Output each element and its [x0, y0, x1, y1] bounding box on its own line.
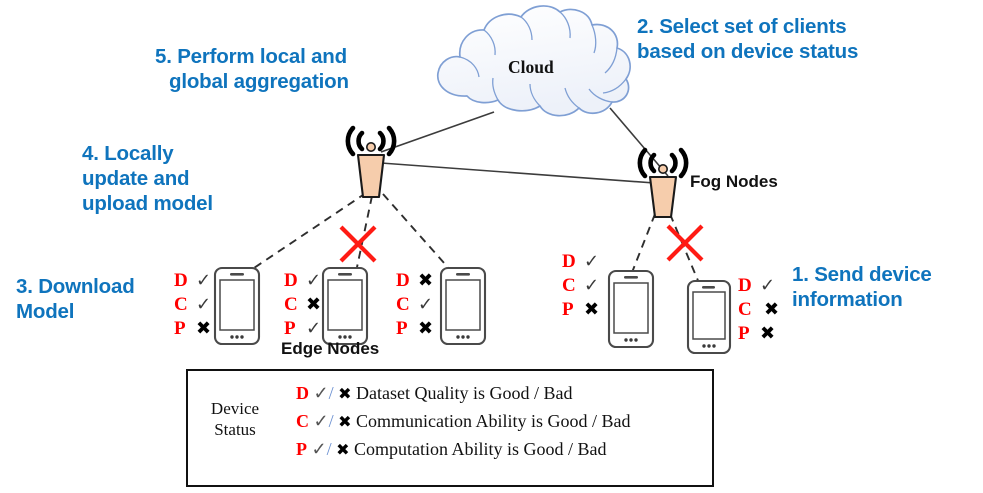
phone-device-2 [323, 268, 367, 344]
device-status-label-line-1: Device [196, 398, 274, 419]
legend-letter-P: P [296, 439, 307, 459]
cloud-label: Cloud [508, 57, 554, 78]
link-right-fog-device-5 [670, 214, 699, 283]
link-right-fog-device-4 [631, 214, 655, 275]
status-letter-C: C [396, 294, 411, 316]
annotation-step-4-line-3: upload model [82, 191, 262, 216]
edge-nodes-label: Edge Nodes [281, 339, 379, 359]
status-row-C: C ✓ [174, 293, 211, 317]
status-mark-D-bad: ✖ [418, 272, 433, 290]
fog-nodes-label: Fog Nodes [690, 172, 778, 192]
annotation-step-4: 4. Locally update and upload model [82, 141, 262, 216]
diagram-canvas: 5. Perform local and global aggregation … [0, 0, 983, 493]
legend-check-icon: ✓ [312, 439, 327, 459]
legend-cross-icon: ✖ [338, 384, 351, 403]
device-status-device-5: D ✓ C ✖ P ✖ [738, 274, 779, 346]
legend-separator: / [329, 411, 334, 431]
device-status-bracket-label: Device Status [196, 398, 274, 440]
status-mark-D-good: ✓ [306, 272, 321, 290]
legend-text-computation: Computation Ability is Good / Bad [354, 439, 607, 459]
phone-device-1 [215, 268, 259, 344]
legend-separator: / [327, 439, 332, 459]
status-mark-C-good: ✓ [196, 296, 211, 314]
annotation-step-4-line-1: 4. Locally [82, 141, 262, 166]
legend-text-communication: Communication Ability is Good / Bad [356, 411, 631, 431]
status-mark-P-bad: ✖ [196, 320, 211, 338]
annotation-step-2-line-1: 2. Select set of clients [637, 14, 937, 39]
device-status-device-1: D ✓ C ✓ P ✖ [174, 269, 211, 341]
status-row-P: P ✖ [562, 298, 599, 322]
status-row-P: P ✖ [174, 317, 211, 341]
device-status-device-3: D ✖ C ✓ P ✖ [396, 269, 433, 341]
status-row-C: C ✓ [562, 274, 599, 298]
status-letter-D: D [284, 270, 299, 292]
status-letter-D: D [738, 275, 753, 297]
status-letter-D: D [396, 270, 411, 292]
annotation-step-3-line-1: 3. Download [16, 274, 186, 299]
annotation-step-4-line-2: update and [82, 166, 262, 191]
status-mark-P-bad: ✖ [418, 320, 433, 338]
status-row-D: D ✓ [174, 269, 211, 293]
phone-device-5 [688, 281, 730, 353]
status-mark-P-good: ✓ [306, 320, 321, 338]
status-row-P: P ✖ [738, 322, 779, 346]
link-cloud-to-left-fog [381, 112, 494, 152]
status-row-D: D ✖ [396, 269, 433, 293]
status-mark-C-bad: ✖ [306, 296, 321, 314]
status-letter-C: C [562, 275, 577, 297]
status-row-P: P ✖ [396, 317, 433, 341]
annotation-step-1-line-1: 1. Send device [792, 262, 982, 287]
annotation-step-5: 5. Perform local and global aggregation [155, 44, 415, 94]
status-row-C: C ✖ [738, 298, 779, 322]
status-mark-D-good: ✓ [760, 277, 775, 295]
legend-letter-D: D [296, 383, 309, 403]
status-mark-C-good: ✓ [584, 277, 599, 295]
status-mark-P-bad: ✖ [760, 325, 775, 343]
annotation-step-3: 3. Download Model [16, 274, 186, 324]
status-letter-P: P [738, 323, 753, 345]
blocked-link-cross-device-2 [341, 227, 375, 261]
phone-device-3 [441, 268, 485, 344]
legend-letter-C: C [296, 411, 309, 431]
status-letter-P: P [284, 318, 299, 340]
annotation-step-1-line-2: information [792, 287, 982, 312]
status-letter-D: D [562, 251, 577, 273]
legend-check-icon: ✓ [314, 411, 329, 431]
annotation-step-1: 1. Send device information [792, 262, 982, 312]
fog-tower-left-icon [348, 128, 394, 197]
status-mark-C-bad: ✖ [764, 301, 779, 319]
status-letter-C: C [738, 299, 753, 321]
legend-row-dataset: D ✓/ ✖ Dataset Quality is Good / Bad [296, 383, 572, 404]
legend-separator: / [329, 383, 334, 403]
blocked-link-cross-device-5 [668, 226, 702, 260]
annotation-step-3-line-2: Model [16, 299, 186, 324]
legend-check-icon: ✓ [314, 383, 329, 403]
legend-text-dataset: Dataset Quality is Good / Bad [356, 383, 572, 403]
annotation-step-5-line-2: global aggregation [169, 69, 415, 94]
status-mark-D-good: ✓ [196, 272, 211, 290]
link-left-fog-to-right-fog [381, 163, 668, 184]
legend-cross-icon: ✖ [338, 412, 351, 431]
device-status-device-2: D ✓ C ✖ P ✓ [284, 269, 321, 341]
status-row-C: C ✖ [284, 293, 321, 317]
annotation-step-5-line-1: 5. Perform local and [155, 44, 415, 69]
status-row-D: D ✓ [562, 250, 599, 274]
status-row-D: D ✓ [284, 269, 321, 293]
annotation-step-2: 2. Select set of clients based on device… [637, 14, 937, 64]
status-row-D: D ✓ [738, 274, 779, 298]
legend-row-communication: C ✓/ ✖ Communication Ability is Good / B… [296, 411, 631, 432]
fog-tower-right-icon [640, 150, 686, 217]
legend-row-computation: P ✓/ ✖ Computation Ability is Good / Bad [296, 439, 607, 460]
status-letter-P: P [562, 299, 577, 321]
status-letter-P: P [396, 318, 411, 340]
link-left-fog-device-3 [383, 194, 452, 272]
status-mark-P-bad: ✖ [584, 301, 599, 319]
legend-cross-icon: ✖ [336, 440, 349, 459]
status-mark-C-good: ✓ [418, 296, 433, 314]
status-letter-C: C [284, 294, 299, 316]
status-row-C: C ✓ [396, 293, 433, 317]
device-status-device-4: D ✓ C ✓ P ✖ [562, 250, 599, 322]
device-status-label-line-2: Status [196, 419, 274, 440]
status-letter-D: D [174, 270, 189, 292]
status-letter-P: P [174, 318, 189, 340]
status-letter-C: C [174, 294, 189, 316]
annotation-step-2-line-2: based on device status [637, 39, 937, 64]
status-row-P: P ✓ [284, 317, 321, 341]
phone-device-4 [609, 271, 653, 347]
status-mark-D-good: ✓ [584, 253, 599, 271]
